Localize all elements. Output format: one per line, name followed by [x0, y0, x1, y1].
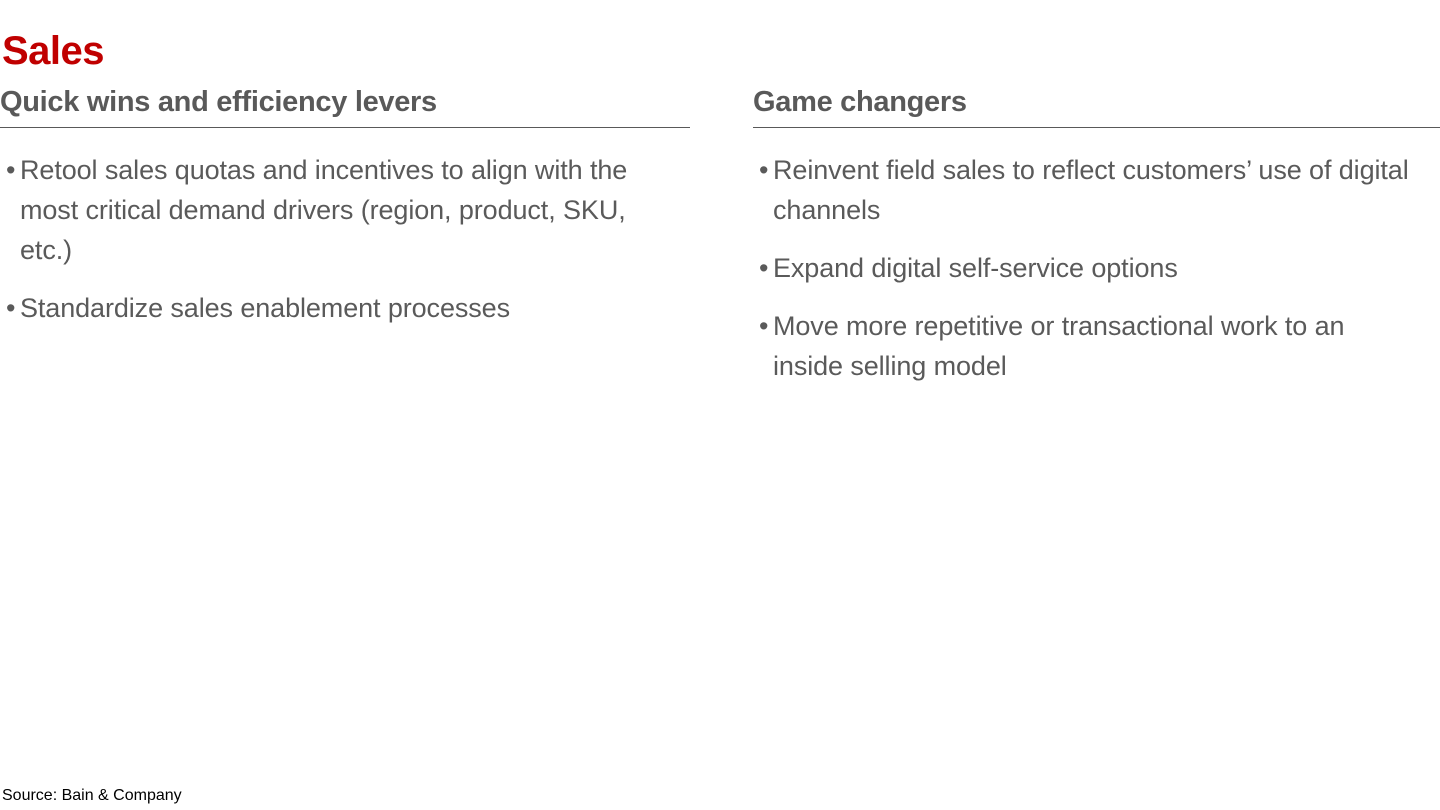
- list-item-text: Expand digital self-service options: [773, 248, 1413, 288]
- bullet-dot-icon: •: [0, 288, 20, 328]
- list-item: • Expand digital self-service options: [753, 248, 1440, 288]
- bullet-list-game-changers: • Reinvent field sales to reflect custom…: [753, 150, 1440, 386]
- list-item: • Reinvent field sales to reflect custom…: [753, 150, 1440, 230]
- bullet-dot-icon: •: [753, 248, 773, 288]
- list-item-text: Reinvent field sales to reflect customer…: [773, 150, 1413, 230]
- list-item: • Standardize sales enablement processes: [0, 288, 690, 328]
- column-quick-wins: Quick wins and efficiency levers • Retoo…: [0, 84, 690, 328]
- page-title: Sales: [2, 27, 104, 75]
- two-column-layout: Quick wins and efficiency levers • Retoo…: [0, 84, 1440, 386]
- bullet-dot-icon: •: [0, 150, 20, 190]
- section-header-game-changers: Game changers: [753, 84, 1440, 127]
- slide-canvas: Sales Quick wins and efficiency levers •…: [0, 0, 1440, 810]
- bullet-dot-icon: •: [753, 306, 773, 346]
- list-item: • Retool sales quotas and incentives to …: [0, 150, 690, 270]
- bullet-dot-icon: •: [753, 150, 773, 190]
- section-divider-left: [0, 127, 690, 128]
- section-header-quick-wins: Quick wins and efficiency levers: [0, 84, 690, 127]
- list-item-text: Retool sales quotas and incentives to al…: [20, 150, 660, 270]
- source-note: Source: Bain & Company: [2, 786, 182, 806]
- list-item: • Move more repetitive or transactional …: [753, 306, 1440, 386]
- column-game-changers: Game changers • Reinvent field sales to …: [753, 84, 1440, 386]
- list-item-text: Standardize sales enablement processes: [20, 288, 660, 328]
- section-divider-right: [753, 127, 1440, 128]
- bullet-list-quick-wins: • Retool sales quotas and incentives to …: [0, 150, 690, 328]
- list-item-text: Move more repetitive or transactional wo…: [773, 306, 1413, 386]
